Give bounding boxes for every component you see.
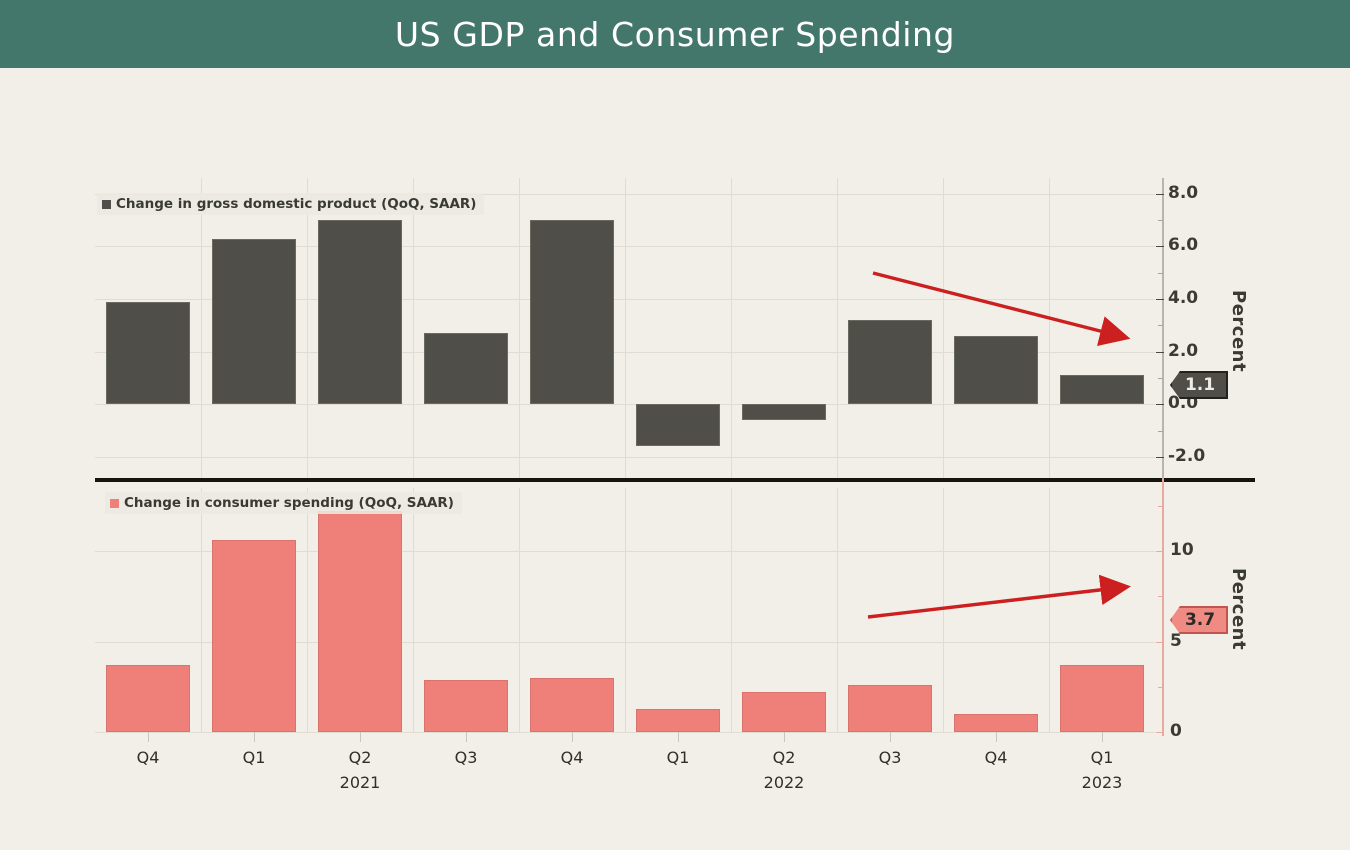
x-axis-year-label: 2023 [1067, 773, 1137, 792]
gridline [1049, 178, 1050, 478]
x-axis-tick [466, 732, 467, 742]
gridline [625, 178, 626, 478]
gdp-bar[interactable] [636, 404, 720, 446]
gridline [943, 488, 944, 732]
gdp-axis-line [1162, 178, 1164, 480]
x-axis-tick [784, 732, 785, 742]
gdp-legend-swatch-icon [102, 200, 111, 209]
axis-tick [1156, 732, 1164, 733]
gdp-legend: Change in gross domestic product (QoQ, S… [97, 193, 484, 215]
gdp-bar[interactable] [742, 404, 826, 420]
axis-tick [1156, 299, 1164, 300]
spending-bar[interactable] [742, 692, 826, 732]
gridline [625, 488, 626, 732]
axis-minor-tick [1158, 506, 1163, 507]
axis-minor-tick [1158, 431, 1163, 432]
gridline [307, 488, 308, 732]
spending-bar[interactable] [106, 665, 190, 732]
gdp-y-axis-title: Percent [1228, 290, 1249, 372]
x-axis-quarter-label: Q4 [961, 748, 1031, 767]
x-axis-quarter-label: Q2 [749, 748, 819, 767]
gridline [731, 178, 732, 478]
gdp-bar[interactable] [106, 302, 190, 405]
gridline [837, 488, 838, 732]
spending-callout-badge: 3.7 [1170, 606, 1228, 634]
spending-legend: Change in consumer spending (QoQ, SAAR) [105, 492, 462, 514]
spending-bar[interactable] [636, 709, 720, 732]
x-axis-tick [572, 732, 573, 742]
axis-tick-label: 0 [1170, 721, 1182, 741]
spending-axis-line [1162, 478, 1164, 736]
gdp-bar[interactable] [848, 320, 932, 404]
spending-bar[interactable] [848, 685, 932, 732]
x-axis-quarter-label: Q4 [113, 748, 183, 767]
axis-tick [1156, 246, 1164, 247]
gdp-bar[interactable] [424, 333, 508, 404]
x-axis-tick [996, 732, 997, 742]
gdp-chart-panel [95, 178, 1155, 478]
panel-divider [95, 478, 1255, 482]
gdp-legend-label: Change in gross domestic product (QoQ, S… [116, 196, 476, 212]
axis-tick [1156, 457, 1164, 458]
x-axis-tick [678, 732, 679, 742]
x-axis-tick [1102, 732, 1103, 742]
gdp-bar[interactable] [530, 220, 614, 404]
axis-tick-label: -2.0 [1168, 446, 1205, 466]
spending-bar[interactable] [212, 540, 296, 732]
axis-tick-label: 6.0 [1168, 235, 1198, 255]
x-axis-quarter-label: Q4 [537, 748, 607, 767]
axis-minor-tick [1158, 378, 1163, 379]
gdp-bar[interactable] [212, 239, 296, 405]
x-axis-tick [254, 732, 255, 742]
gridline [519, 178, 520, 478]
x-axis-year-label: 2022 [749, 773, 819, 792]
x-axis-quarter-label: Q1 [219, 748, 289, 767]
x-axis-tick [360, 732, 361, 742]
spending-y-axis-title: Percent [1228, 568, 1249, 650]
page-title: US GDP and Consumer Spending [395, 15, 955, 54]
gdp-bar[interactable] [954, 336, 1038, 404]
axis-tick-label: 2.0 [1168, 341, 1198, 361]
x-axis-year-label: 2021 [325, 773, 395, 792]
axis-tick [1156, 404, 1164, 405]
gdp-bar[interactable] [318, 220, 402, 404]
axis-tick [1156, 642, 1164, 643]
spending-bar[interactable] [954, 714, 1038, 732]
spending-bar[interactable] [424, 680, 508, 732]
axis-tick-label: 4.0 [1168, 288, 1198, 308]
axis-minor-tick [1158, 687, 1163, 688]
chart-canvas: Change in gross domestic product (QoQ, S… [0, 68, 1350, 850]
gridline [519, 488, 520, 732]
spending-legend-label: Change in consumer spending (QoQ, SAAR) [124, 495, 454, 511]
gridline [307, 178, 308, 478]
gridline [1049, 488, 1050, 732]
x-axis-quarter-label: Q3 [431, 748, 501, 767]
x-axis-quarter-label: Q2 [325, 748, 395, 767]
gridline [201, 488, 202, 732]
gridline [413, 178, 414, 478]
spending-bar[interactable] [1060, 665, 1144, 732]
axis-minor-tick [1158, 596, 1163, 597]
x-axis-quarter-label: Q1 [1067, 748, 1137, 767]
axis-tick-label: 10 [1170, 540, 1194, 560]
gdp-bar[interactable] [1060, 375, 1144, 404]
axis-tick [1156, 551, 1164, 552]
x-axis-tick [148, 732, 149, 742]
axis-minor-tick [1158, 325, 1163, 326]
gdp-callout-badge: 1.1 [1170, 371, 1228, 399]
gridline [201, 178, 202, 478]
gridline [943, 178, 944, 478]
axis-minor-tick [1158, 273, 1163, 274]
axis-minor-tick [1158, 220, 1163, 221]
spending-bar[interactable] [530, 678, 614, 732]
axis-tick-label: 8.0 [1168, 183, 1198, 203]
spending-legend-swatch-icon [110, 499, 119, 508]
gridline [413, 488, 414, 732]
x-axis-quarter-label: Q1 [643, 748, 713, 767]
x-axis-quarter-label: Q3 [855, 748, 925, 767]
gridline [731, 488, 732, 732]
axis-tick [1156, 352, 1164, 353]
page-header: US GDP and Consumer Spending [0, 0, 1350, 68]
gridline [837, 178, 838, 478]
spending-chart-panel [95, 488, 1155, 732]
axis-tick [1156, 194, 1164, 195]
spending-bar[interactable] [318, 511, 402, 732]
x-axis-tick [890, 732, 891, 742]
